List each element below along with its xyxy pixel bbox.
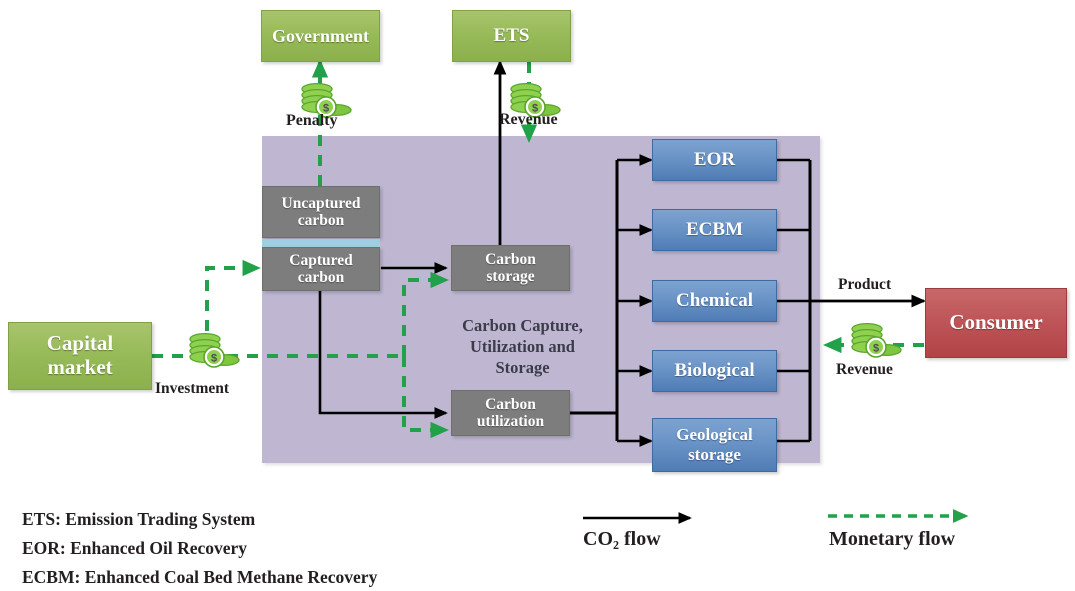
legend-label-monetary-flow-text: Monetary flow bbox=[829, 528, 955, 550]
diagram-canvas: Carbon Capture, Utilization and Storage bbox=[0, 0, 1075, 591]
legend-label-monetary-flow: Monetary flow bbox=[829, 528, 955, 551]
legend-arrow-layer bbox=[0, 0, 1075, 591]
legend-label-co2-flow: CO₂ flow bbox=[583, 528, 661, 551]
legend-label-co2-flow-text: CO₂ flow bbox=[583, 528, 661, 550]
